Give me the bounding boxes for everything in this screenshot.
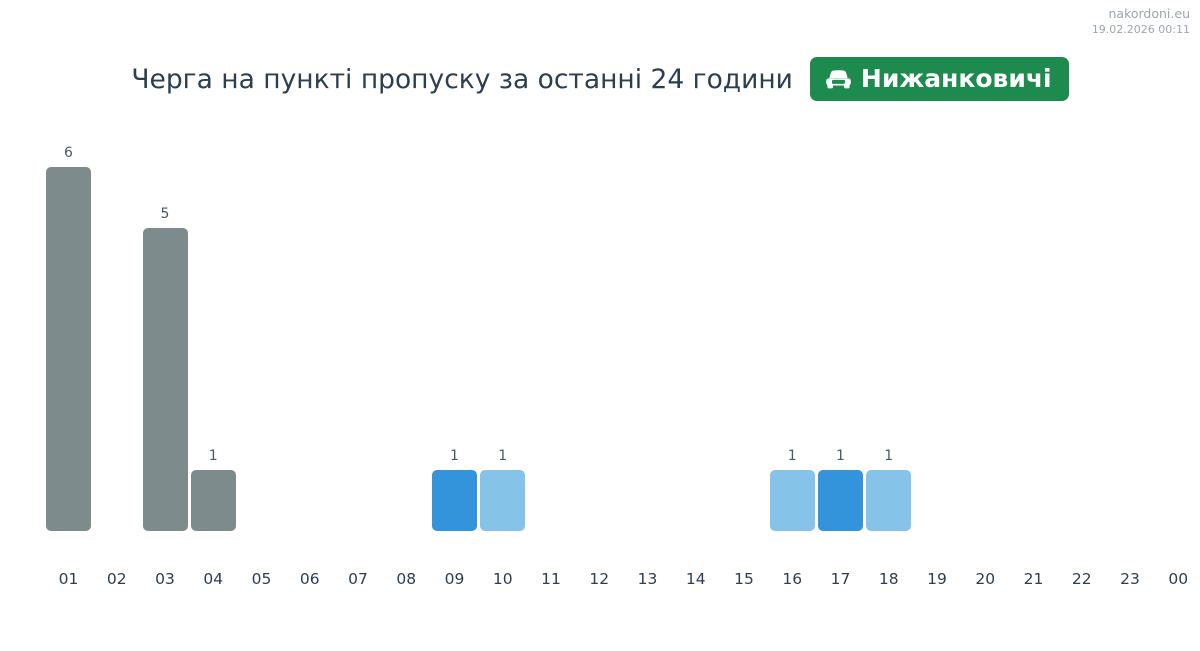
bar-09[interactable] xyxy=(432,470,477,531)
x-axis-tick-20: 20 xyxy=(963,572,1008,588)
bar-value-10: 1 xyxy=(480,449,525,463)
x-axis-tick-11: 11 xyxy=(529,572,574,588)
x-axis-tick-23: 23 xyxy=(1108,572,1153,588)
x-axis-tick-16: 16 xyxy=(770,572,815,588)
bar-value-09: 1 xyxy=(432,449,477,463)
x-axis-tick-15: 15 xyxy=(722,572,767,588)
bar-03[interactable] xyxy=(143,228,188,532)
x-axis-tick-18: 18 xyxy=(866,572,911,588)
x-axis-tick-04: 04 xyxy=(191,572,236,588)
bar-chart: 6010250310405060708109110111213141511611… xyxy=(0,0,1200,651)
x-axis-tick-06: 06 xyxy=(287,572,332,588)
bar-value-17: 1 xyxy=(818,449,863,463)
x-axis-tick-00: 00 xyxy=(1156,572,1200,588)
x-axis-tick-07: 07 xyxy=(336,572,381,588)
x-axis-tick-03: 03 xyxy=(143,572,188,588)
x-axis-tick-12: 12 xyxy=(577,572,622,588)
x-axis-tick-22: 22 xyxy=(1059,572,1104,588)
bar-17[interactable] xyxy=(818,470,863,531)
bar-16[interactable] xyxy=(770,470,815,531)
x-axis-tick-19: 19 xyxy=(915,572,960,588)
bar-18[interactable] xyxy=(866,470,911,531)
bar-value-04: 1 xyxy=(191,449,236,463)
x-axis-tick-10: 10 xyxy=(480,572,525,588)
x-axis-tick-09: 09 xyxy=(432,572,477,588)
bar-value-18: 1 xyxy=(866,449,911,463)
bar-value-01: 6 xyxy=(46,146,91,160)
x-axis-tick-02: 02 xyxy=(94,572,139,588)
x-axis-tick-08: 08 xyxy=(384,572,429,588)
x-axis-tick-21: 21 xyxy=(1011,572,1056,588)
bar-04[interactable] xyxy=(191,470,236,531)
x-axis-tick-13: 13 xyxy=(625,572,670,588)
bar-10[interactable] xyxy=(480,470,525,531)
x-axis-tick-05: 05 xyxy=(239,572,284,588)
x-axis-tick-17: 17 xyxy=(818,572,863,588)
x-axis-tick-01: 01 xyxy=(46,572,91,588)
bar-value-16: 1 xyxy=(770,449,815,463)
x-axis-tick-14: 14 xyxy=(673,572,718,588)
bar-value-03: 5 xyxy=(143,207,188,221)
bar-01[interactable] xyxy=(46,167,91,531)
